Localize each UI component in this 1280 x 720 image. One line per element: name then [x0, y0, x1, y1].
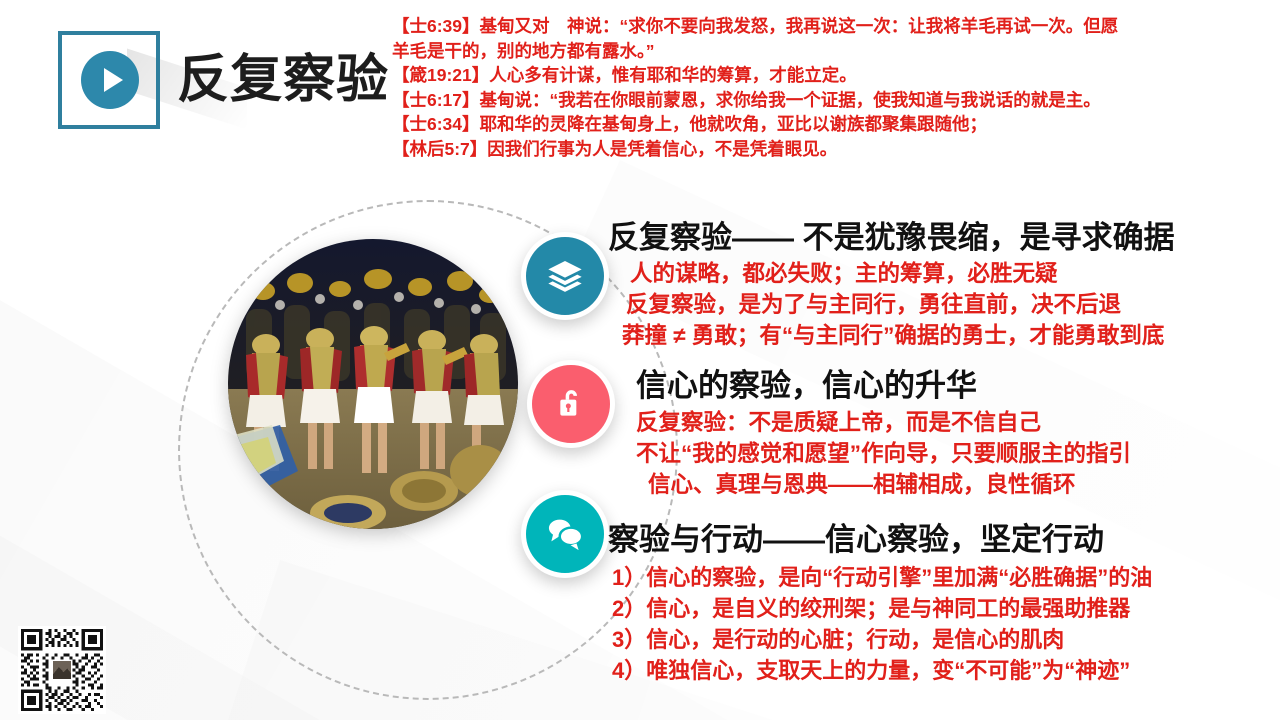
- section-2-line: 反复察验：不是质疑上帝，而是不信自己: [636, 407, 1131, 438]
- unlock-icon[interactable]: [527, 360, 615, 448]
- chat-bubbles-icon[interactable]: [521, 490, 609, 578]
- section-3-line: 3）信心，是行动的心脏；行动，是信心的肌肉: [608, 624, 1152, 655]
- frame-corner-tr: [130, 31, 160, 61]
- frame-edge-bottom: [88, 125, 130, 129]
- scripture-line: 【林后5:7】因我们行事为人是凭着信心，不是凭着眼见。: [392, 137, 1272, 162]
- section-1-heading: 反复察验—— 不是犹豫畏缩，是寻求确据: [608, 218, 1175, 258]
- section-2-line: 不让“我的感觉和愿望”作向导，只要顺服主的指引: [636, 438, 1131, 469]
- scripture-line: 【箴19:21】人心多有计谋，惟有耶和华的筹算，才能立定。: [392, 63, 1272, 88]
- play-circle-icon: [81, 51, 139, 109]
- frame-corner-bl: [58, 99, 88, 129]
- section-3-heading: 察验与行动——信心察验，坚定行动: [608, 518, 1152, 562]
- scripture-line: 【士6:17】基甸说：“我若在你眼前蒙恩，求你给我一个证据，使我知道与我说话的就…: [392, 88, 1272, 113]
- frame-edge-top: [88, 31, 130, 35]
- section-2-line: 信心、真理与恩典——相辅相成，良性循环: [636, 469, 1131, 500]
- section-3-line: 1）信心的察验，是向“行动引擎”里加满“必胜确据”的油: [608, 562, 1152, 593]
- frame-edge-left: [58, 61, 62, 99]
- section-1-line: 莽撞 ≠ 勇敢；有“与主同行”确据的勇士，才能勇敢到底: [608, 320, 1175, 351]
- section-2: 信心的察验，信心的升华 反复察验：不是质疑上帝，而是不信自己 不让“我的感觉和愿…: [636, 365, 1131, 500]
- play-triangle-icon: [104, 68, 123, 92]
- play-button-icon: [55, 28, 163, 132]
- section-3-line: 4）唯独信心，支取天上的力量，变“不可能”为“神迹”: [608, 655, 1152, 686]
- scripture-text: 【林后5:7】因我们行事为人是凭着信心，不是凭着眼见。: [392, 139, 837, 159]
- frame-corner-tl: [58, 31, 88, 61]
- section-1: 反复察验—— 不是犹豫畏缩，是寻求确据 人的谋略，都必失败；主的筹算，必胜无疑 …: [608, 218, 1175, 351]
- scripture-text: 【箴19:21】人心多有计谋，惟有耶和华的筹算，才能立定。: [392, 65, 857, 85]
- warriors-photo: [228, 239, 518, 529]
- scripture-text: 【士6:39】基甸又对 神说：“求你不要向我发怒，我再说这一次：让我将羊毛再试一…: [392, 16, 1118, 36]
- section-1-line: 反复察验，是为了与主同行，勇往直前，决不后退: [608, 289, 1175, 320]
- scripture-block: 【士6:39】基甸又对 神说：“求你不要向我发怒，我再说这一次：让我将羊毛再试一…: [392, 14, 1272, 161]
- section-1-line: 人的谋略，都必失败；主的筹算，必胜无疑: [608, 258, 1175, 289]
- scripture-text: 【士6:34】耶和华的灵降在基甸身上，他就吹角，亚比以谢族都聚集跟随他；: [392, 114, 987, 134]
- qr-code[interactable]: [18, 626, 106, 714]
- frame-corner-br: [130, 99, 160, 129]
- scripture-line: 【士6:39】基甸又对 神说：“求你不要向我发怒，我再说这一次：让我将羊毛再试一…: [392, 14, 1272, 39]
- section-3: 察验与行动——信心察验，坚定行动 1）信心的察验，是向“行动引擎”里加满“必胜确…: [608, 518, 1152, 686]
- frame-edge-right: [156, 61, 160, 99]
- slide-logo-title: 反复察验: [55, 26, 385, 134]
- scripture-line: 【士6:34】耶和华的灵降在基甸身上，他就吹角，亚比以谢族都聚集跟随他；: [392, 112, 1272, 137]
- section-2-heading: 信心的察验，信心的升华: [636, 365, 1131, 407]
- scripture-text: 【士6:17】基甸说：“我若在你眼前蒙恩，求你给我一个证据，使我知道与我说话的就…: [392, 90, 1101, 110]
- section-3-line: 2）信心，是自义的绞刑架；是与神同工的最强助推器: [608, 593, 1152, 624]
- scripture-line: 羊毛是干的，别的地方都有露水。”: [392, 39, 1272, 64]
- layers-icon[interactable]: [521, 232, 609, 320]
- page-title: 反复察验: [177, 54, 389, 106]
- scripture-text: 羊毛是干的，别的地方都有露水。”: [392, 41, 655, 61]
